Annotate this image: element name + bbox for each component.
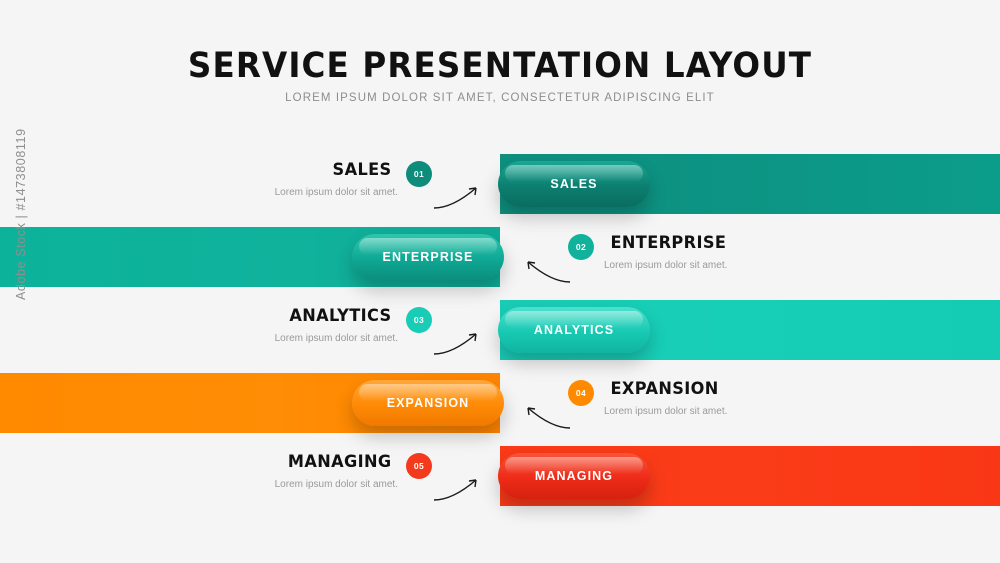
step-description: Lorem ipsum dolor sit amet. [140, 333, 398, 344]
connector-arrow-icon-04 [522, 402, 572, 432]
step-description: Lorem ipsum dolor sit amet. [140, 187, 398, 198]
pill-analytics[interactable]: ANALYTICS [498, 307, 650, 353]
badge-number: 05 [414, 461, 424, 471]
step-heading: ANALYTICS [146, 306, 391, 326]
page-subtitle: LOREM IPSUM DOLOR SIT AMET, CONSECTETUR … [0, 92, 1000, 104]
pill-label: ENTERPRISE [383, 250, 474, 264]
step-number-badge-05: 05 [406, 453, 432, 479]
step-description: Lorem ipsum dolor sit amet. [604, 406, 864, 417]
step-heading: MANAGING [146, 452, 391, 472]
pill-enterprise[interactable]: ENTERPRISE [352, 234, 504, 280]
step-heading: SALES [146, 160, 391, 180]
connector-arrow-icon-01 [432, 182, 482, 212]
pill-label: ANALYTICS [534, 323, 614, 337]
step-heading: EXPANSION [611, 379, 858, 399]
badge-number: 02 [576, 242, 586, 252]
connector-arrow-icon-03 [432, 328, 482, 358]
step-text-analytics: ANALYTICS Lorem ipsum dolor sit amet. [140, 306, 398, 344]
infographic-canvas: SERVICE PRESENTATION LAYOUT LOREM IPSUM … [0, 0, 1000, 563]
badge-number: 01 [414, 169, 424, 179]
step-heading: ENTERPRISE [611, 233, 858, 253]
step-text-sales: SALES Lorem ipsum dolor sit amet. [140, 160, 398, 198]
connector-arrow-icon-05 [432, 474, 482, 504]
pill-managing[interactable]: MANAGING [498, 453, 650, 499]
step-number-badge-01: 01 [406, 161, 432, 187]
connector-arrow-icon-02 [522, 256, 572, 286]
pill-sales[interactable]: SALES [498, 161, 650, 207]
watermark: Adobe Stock | #1473808119 [14, 128, 28, 300]
pill-label: MANAGING [535, 469, 613, 483]
step-text-expansion: EXPANSION Lorem ipsum dolor sit amet. [604, 379, 864, 417]
pill-label: SALES [550, 177, 597, 191]
badge-number: 03 [414, 315, 424, 325]
step-description: Lorem ipsum dolor sit amet. [604, 260, 864, 271]
step-text-enterprise: ENTERPRISE Lorem ipsum dolor sit amet. [604, 233, 864, 271]
step-number-badge-03: 03 [406, 307, 432, 333]
pill-label: EXPANSION [387, 396, 470, 410]
step-text-managing: MANAGING Lorem ipsum dolor sit amet. [140, 452, 398, 490]
pill-expansion[interactable]: EXPANSION [352, 380, 504, 426]
badge-number: 04 [576, 388, 586, 398]
step-description: Lorem ipsum dolor sit amet. [140, 479, 398, 490]
page-title: SERVICE PRESENTATION LAYOUT [35, 46, 965, 86]
